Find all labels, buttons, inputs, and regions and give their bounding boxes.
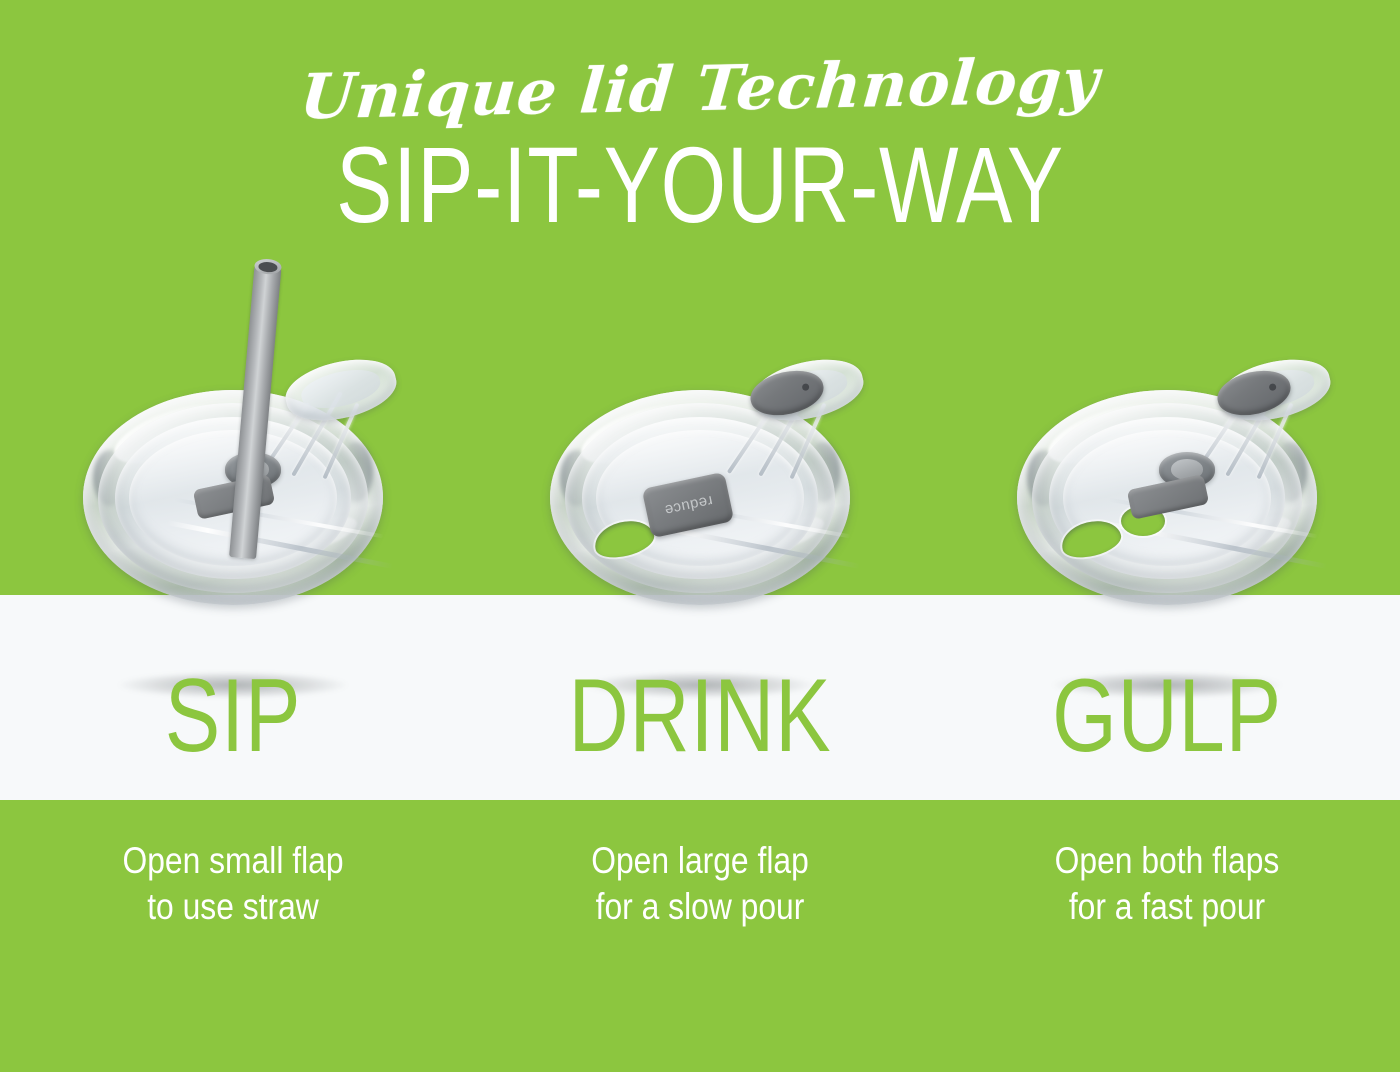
page-title: SIP-IT-YOUR-WAY [154,130,1246,240]
brand-tab-label: reduce [662,492,713,519]
mode-caption-gulp: Open both flaps for a fast pour [967,838,1368,930]
lid-graphic: reduce [550,390,850,605]
caption-line-2: for a fast pour [967,884,1368,930]
caption-line-1: Open small flap [122,840,343,881]
lid-illustration-drink: reduce [467,280,933,660]
flap-inner-face [298,363,384,414]
caption-line-2: to use straw [33,884,434,930]
lid-illustration-gulp [934,280,1400,660]
lid-illustration-sip [0,280,466,660]
mode-label-drink: DRINK [514,664,887,768]
lid-graphic [1017,390,1317,605]
mode-caption-sip: Open small flap to use straw [33,838,434,930]
straw-bore [258,261,278,273]
caption-line-2: for a slow pour [500,884,901,930]
caption-line-1: Open both flaps [1055,840,1280,881]
infographic-stage: Unique lid Technology SIP-IT-YOUR-WAY [0,0,1400,1072]
mode-label-gulp: GULP [981,664,1354,768]
lid-graphic [83,390,383,605]
caption-line-1: Open large flap [591,840,809,881]
mode-caption-drink: Open large flap for a slow pour [500,838,901,930]
mode-label-sip: SIP [47,664,420,768]
